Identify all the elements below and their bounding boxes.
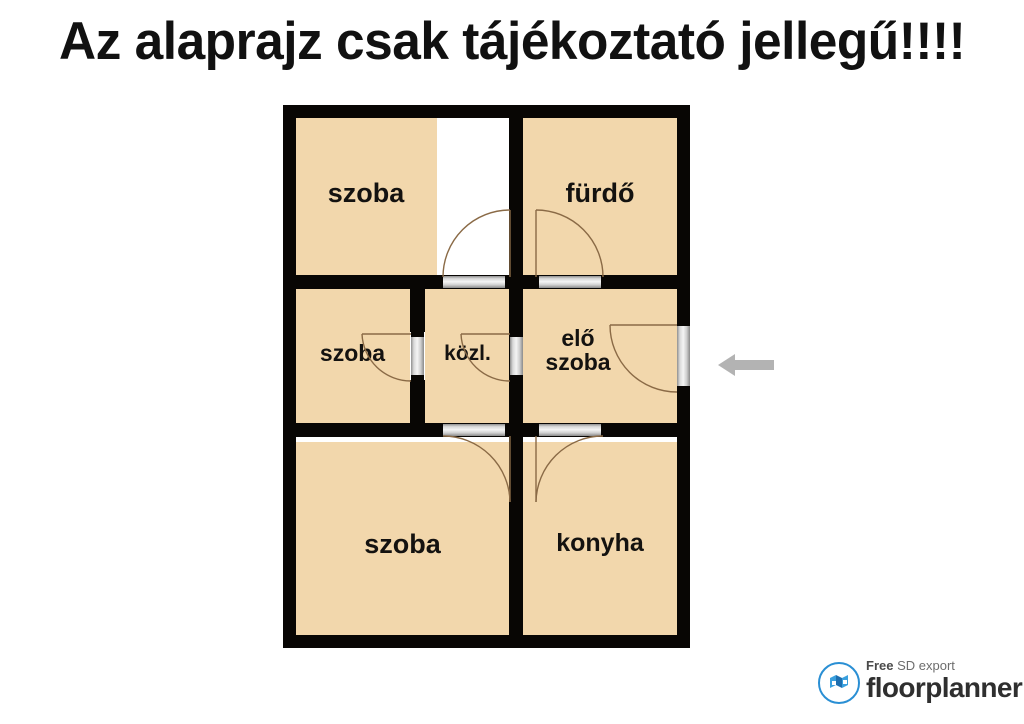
door-swing-arc-szoba-top-left	[438, 209, 512, 277]
wall-interior-kozl-left-upper	[410, 288, 425, 332]
room-furdo: fürdő	[522, 117, 678, 276]
room-label-elo-szoba: elő szoba	[500, 326, 656, 374]
door-endcap	[411, 375, 424, 380]
floorplanner-logo: Free SD export floorplanner	[818, 658, 1010, 712]
door-kozl[interactable]	[510, 332, 523, 380]
wall-exterior-left	[283, 105, 296, 648]
room-szoba-top-left: szoba	[295, 117, 437, 276]
floorplan-diagram: szoba fürdő szoba közl. elő szoba szoba …	[283, 105, 690, 648]
room-szoba-bottom-left: szoba	[295, 442, 510, 636]
floorplanner-logo-text: Free SD export floorplanner	[866, 658, 1014, 703]
door-endcap	[601, 424, 606, 436]
room-elo-szoba: elő szoba	[522, 288, 678, 423]
door-szoba-top-left[interactable]	[438, 276, 510, 288]
logo-tagline-rest: SD export	[897, 658, 955, 673]
room-label-szoba-mid-left: szoba	[295, 341, 410, 365]
room-label-konyha: konyha	[522, 530, 678, 556]
room-label-szoba-bottom-left: szoba	[295, 530, 510, 558]
door-endcap	[510, 375, 523, 380]
room-label-furdo: fürdő	[522, 179, 678, 207]
door-endcap	[510, 332, 523, 337]
room-konyha: konyha	[522, 442, 678, 636]
room-label-kozl: közl.	[425, 343, 510, 365]
wall-exterior-top	[283, 105, 690, 118]
door-endcap	[677, 321, 690, 326]
room-label-szoba-top-left: szoba	[295, 179, 437, 207]
door-konyha[interactable]	[534, 424, 606, 436]
room-kozl: közl.	[425, 288, 510, 423]
wall-interior-kozl-left-lower	[410, 380, 425, 424]
door-entrance[interactable]	[677, 321, 690, 391]
wall-interior-kozl-right-lower	[509, 380, 523, 424]
floorplanner-badge-icon	[818, 662, 860, 704]
door-endcap	[534, 276, 539, 288]
page-title: Az alaprajz csak tájékoztató jellegű!!!!	[59, 15, 965, 68]
door-endcap	[438, 276, 443, 288]
door-endcap	[505, 276, 510, 288]
logo-tagline-free: Free	[866, 658, 893, 673]
room-szoba-mid-left: szoba	[295, 288, 410, 423]
door-szoba-mid-left[interactable]	[411, 332, 424, 380]
title-banner: Az alaprajz csak tájékoztató jellegű!!!!	[0, 0, 1024, 82]
door-furdo[interactable]	[534, 276, 606, 288]
door-endcap	[534, 424, 539, 436]
entrance-arrow-icon	[718, 352, 774, 378]
door-endcap	[505, 424, 510, 436]
wall-interior-kozl-right-upper	[509, 288, 523, 332]
wall-exterior-bottom	[283, 635, 690, 648]
door-szoba-bottom-left[interactable]	[438, 424, 510, 436]
door-endcap	[677, 386, 690, 391]
door-endcap	[411, 332, 424, 337]
door-endcap	[601, 276, 606, 288]
logo-wordmark: floorplanner	[866, 673, 1014, 703]
door-endcap	[438, 424, 443, 436]
logo-tagline: Free SD export	[866, 658, 1014, 673]
